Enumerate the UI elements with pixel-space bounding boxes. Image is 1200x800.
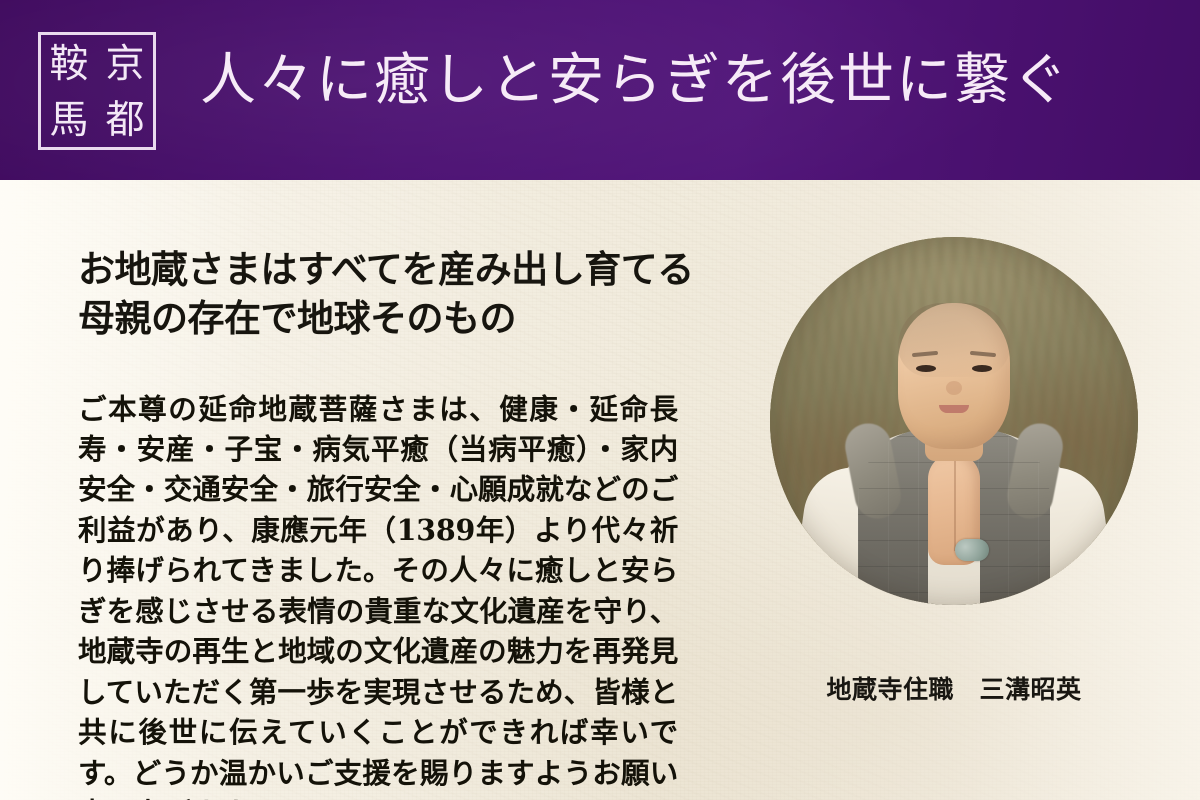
portrait-mala-bracelet	[955, 539, 989, 561]
portrait-mouth	[939, 405, 969, 413]
portrait-caption: 地蔵寺住職 三溝昭英	[770, 670, 1138, 706]
portrait-photo	[770, 237, 1138, 605]
portrait-left-eye	[916, 365, 936, 372]
header-bar: 鞍 馬 京 都 人々に癒しと安らぎを後世に繋ぐ	[0, 0, 1200, 180]
kyoto-kurama-logo: 鞍 馬 京 都	[38, 32, 156, 150]
page-title: お地蔵さまはすべてを産み出し育てる母親の存在で地球そのもの	[78, 245, 698, 343]
portrait-shaved-scalp	[898, 303, 1010, 377]
header-title: 人々に癒しと安らぎを後世に繋ぐ	[200, 50, 1070, 112]
body-paragraph: ご本尊の延命地蔵菩薩さまは、健康・延命長寿・安産・子宝・病気平癒（当病平癒）・家…	[78, 389, 678, 800]
logo-char-ma: 馬	[49, 101, 88, 140]
logo-char-kura: 鞍	[49, 45, 88, 84]
logo-char-kyo: 京	[105, 45, 144, 84]
logo-char-to: 都	[105, 101, 144, 140]
portrait-right-eye	[972, 365, 992, 372]
main-content: お地蔵さまはすべてを産み出し育てる母親の存在で地球そのもの ご本尊の延命地蔵菩薩…	[0, 180, 1200, 800]
campaign-banner: 鞍 馬 京 都 人々に癒しと安らぎを後世に繋ぐ お地蔵さまはすべてを産み出し育て…	[0, 0, 1200, 800]
portrait-nose	[946, 381, 962, 395]
portrait-circle-frame	[770, 237, 1138, 605]
